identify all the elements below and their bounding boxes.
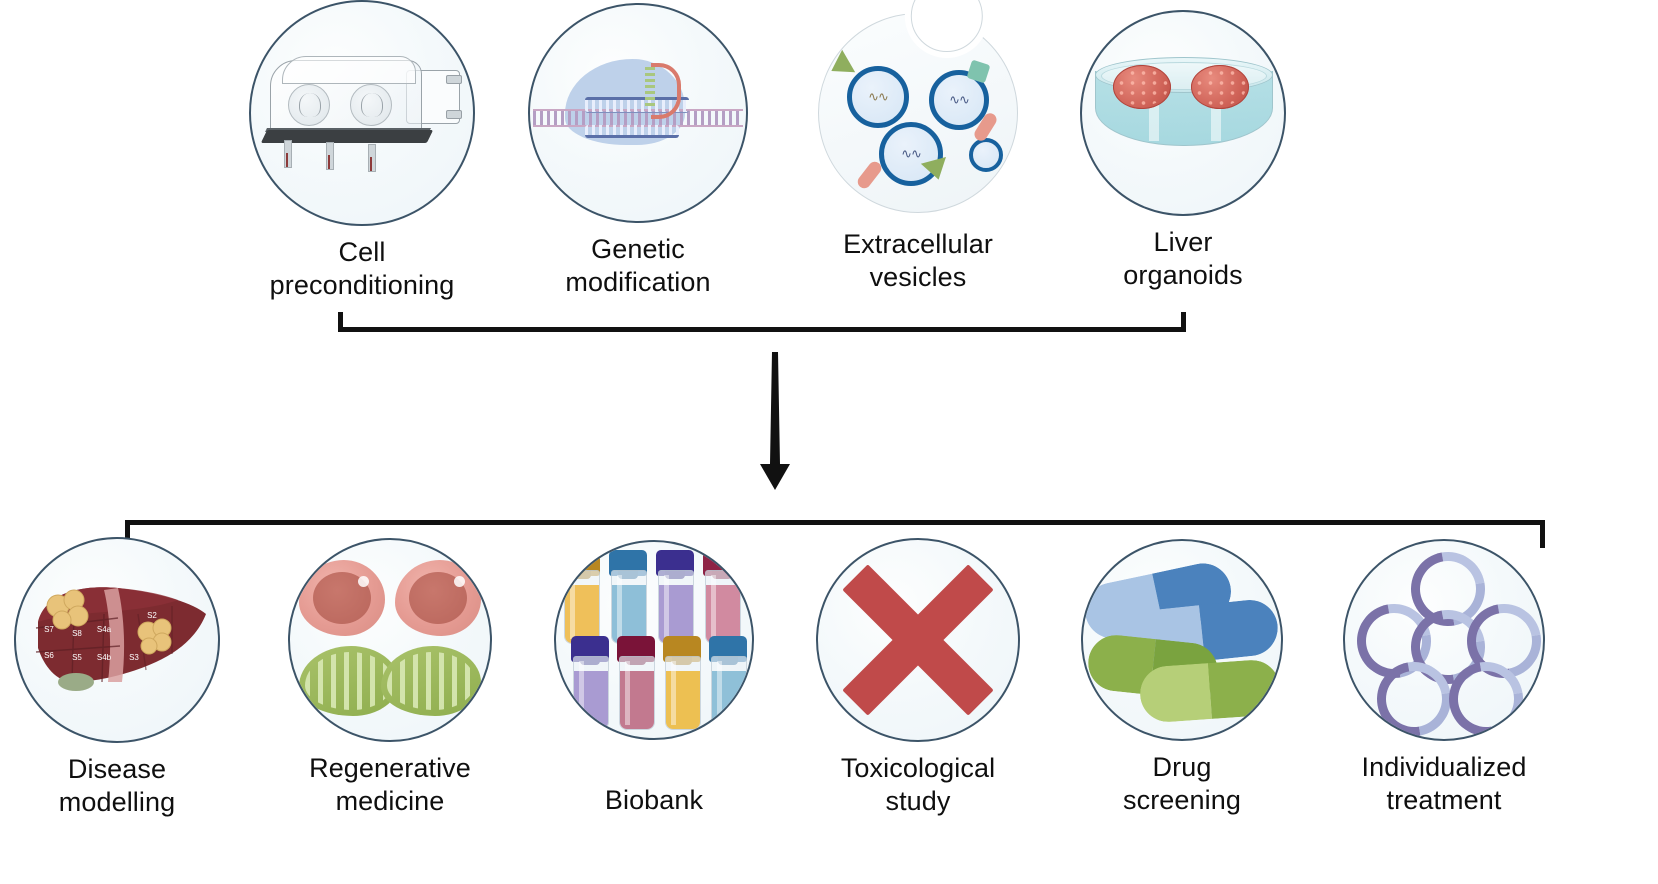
svg-text:S3: S3 bbox=[129, 653, 139, 662]
node-label: Drug screening bbox=[1123, 751, 1241, 817]
capsules-icon bbox=[1081, 539, 1283, 741]
node-label: Regenerative medicine bbox=[309, 752, 471, 818]
node-label: Cell preconditioning bbox=[270, 236, 455, 302]
crispr-cas9-icon bbox=[528, 3, 748, 223]
svg-text:S4a: S4a bbox=[97, 625, 112, 634]
svg-text:S7: S7 bbox=[44, 625, 54, 634]
node-extracellular-vesicles[interactable]: ∿∿ ∿∿ ∿∿ Extracellular vesicles bbox=[813, 8, 1023, 294]
node-cell-preconditioning[interactable]: Cell preconditioning bbox=[249, 0, 475, 302]
downward-arrow bbox=[752, 352, 796, 492]
svg-text:S8: S8 bbox=[72, 629, 82, 638]
petri-dish-organoid-icon bbox=[1080, 10, 1286, 216]
svg-text:S5: S5 bbox=[72, 653, 82, 662]
extracellular-vesicles-icon: ∿∿ ∿∿ ∿∿ bbox=[813, 8, 1023, 218]
svg-text:S6: S6 bbox=[44, 651, 54, 660]
node-label: Extracellular vesicles bbox=[843, 228, 993, 294]
node-genetic-modification[interactable]: Genetic modification bbox=[528, 3, 748, 299]
node-label: Disease modelling bbox=[59, 753, 175, 819]
svg-text:S4b: S4b bbox=[97, 653, 112, 662]
node-liver-organoids[interactable]: Liver organoids bbox=[1080, 10, 1286, 292]
node-label: Liver organoids bbox=[1123, 226, 1243, 292]
plasmid-rings-icon bbox=[1343, 539, 1545, 741]
node-label: Toxicological study bbox=[841, 752, 995, 818]
red-x-icon bbox=[816, 538, 1020, 742]
node-drug-screening[interactable]: Drug screening bbox=[1081, 539, 1283, 817]
node-label: Genetic modification bbox=[565, 233, 710, 299]
vesicle: ∿∿ bbox=[847, 66, 909, 128]
vesicle bbox=[969, 138, 1003, 172]
node-label: Biobank bbox=[605, 784, 703, 817]
node-regenerative-medicine[interactable]: Regenerative medicine bbox=[288, 538, 492, 818]
svg-text:S2: S2 bbox=[147, 611, 157, 620]
liver-tumor-icon: S7 S8 S4a S2 S6 S5 S4b S3 bbox=[14, 537, 220, 743]
top-bracket bbox=[338, 312, 1186, 332]
node-individualized-treatment[interactable]: Individualized treatment bbox=[1343, 539, 1545, 817]
node-toxicological-study[interactable]: Toxicological study bbox=[816, 538, 1020, 818]
cells-mitochondria-icon bbox=[288, 538, 492, 742]
cryovials-icon bbox=[554, 540, 754, 740]
node-label: Individualized treatment bbox=[1361, 751, 1526, 817]
node-biobank[interactable]: Biobank bbox=[554, 540, 754, 817]
figure-canvas: Cell preconditioning Genetic modificatio… bbox=[0, 0, 1658, 884]
hypoxia-chamber-icon bbox=[249, 0, 475, 226]
node-disease-modelling[interactable]: S7 S8 S4a S2 S6 S5 S4b S3 Disease modell… bbox=[14, 537, 220, 819]
